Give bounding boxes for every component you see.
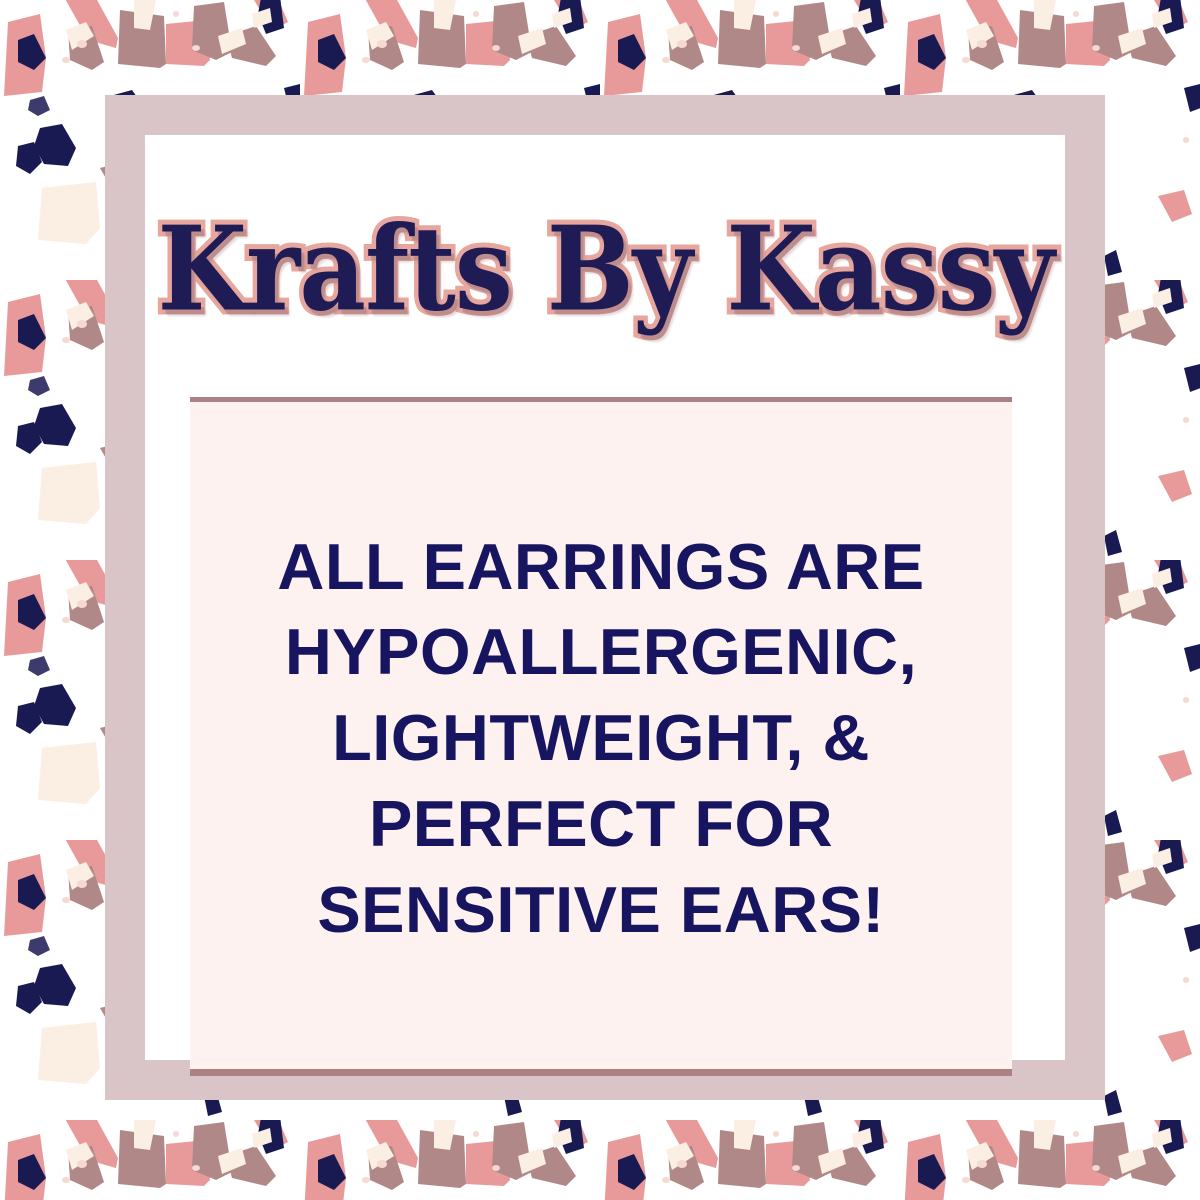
message-line: PERFECT FOR — [369, 781, 833, 867]
message-line: ALL EARRINGS ARE — [277, 524, 924, 610]
brand-logo-text: Krafts By Kassy — [157, 210, 1053, 326]
message-line: LIGHTWEIGHT, & — [332, 695, 870, 781]
message-line: SENSITIVE EARS! — [317, 867, 884, 953]
brand-logo: Krafts By Kassy — [145, 135, 1065, 402]
poster-frame: Krafts By Kassy ALL EARRINGS ARE HYPOALL… — [105, 95, 1105, 1100]
message-line: HYPOALLERGENIC, — [285, 609, 917, 695]
divider-bottom — [190, 1069, 1012, 1076]
poster-canvas: Krafts By Kassy ALL EARRINGS ARE HYPOALL… — [0, 0, 1200, 1200]
message-text-block: ALL EARRINGS ARE HYPOALLERGENIC, LIGHTWE… — [190, 402, 1012, 1074]
poster-card: Krafts By Kassy ALL EARRINGS ARE HYPOALL… — [145, 135, 1065, 1060]
